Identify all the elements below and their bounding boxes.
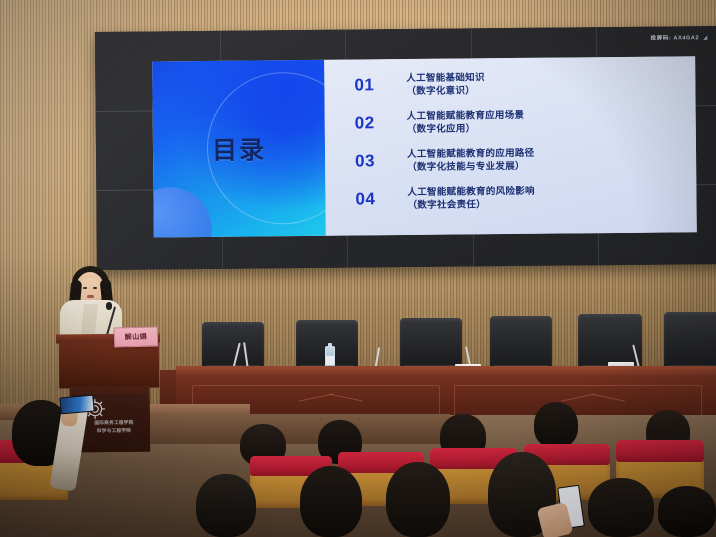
- podium-body: [59, 341, 159, 388]
- toc-title: 人工智能赋能教育的应用路径: [407, 147, 535, 159]
- toc-number: 04: [355, 189, 407, 209]
- lecture-hall-photo: 投屏码: AX4GA2◢ 目录 01 人工智能基础知识 （数字化意识） 02: [0, 0, 716, 537]
- toc-label: 人工智能赋能教育应用场景 （数字化应用）: [407, 108, 525, 136]
- speaker-name-text: 解山娟: [125, 332, 148, 342]
- slide-title-panel: 目录: [152, 60, 326, 238]
- toc-subtitle: （数字化意识）: [406, 84, 485, 98]
- speaker-name-placard: 解山娟: [114, 327, 158, 348]
- cast-code-arrow-icon: ◢: [703, 35, 708, 41]
- cast-code-label: 投屏码: AX4GA2◢: [651, 33, 708, 42]
- slide-toc-panel: 01 人工智能基础知识 （数字化意识） 02 人工智能赋能教育应用场景 （数字化…: [324, 56, 697, 236]
- presentation-slide: 目录 01 人工智能基础知识 （数字化意识） 02 人工智能赋能教育应用场景 （…: [152, 56, 697, 237]
- bottle-label: [326, 356, 334, 365]
- podium-org-text: 国际商务工程学院 科学与工程学院: [76, 419, 152, 435]
- photographer-phone[interactable]: [59, 395, 94, 415]
- toc-label: 人工智能赋能教育的风险影响 （数字社会责任）: [407, 184, 535, 212]
- toc-title: 人工智能基础知识: [406, 72, 485, 84]
- speaker-eye: [93, 287, 97, 289]
- audience-head: [658, 486, 716, 537]
- podium-microphone-head[interactable]: [106, 302, 112, 310]
- chair[interactable]: [664, 312, 716, 370]
- audience-head: [196, 474, 256, 537]
- phone-screen: [60, 396, 93, 414]
- podium-org-line2: 科学与工程学院: [76, 426, 152, 435]
- toc-item: 01 人工智能基础知识 （数字化意识）: [324, 63, 695, 105]
- stage-riser-front: [150, 414, 450, 444]
- audience-head: [534, 402, 578, 448]
- toc-subtitle: （数字化技能与专业发展）: [407, 160, 535, 175]
- toc-subtitle: （数字化应用）: [407, 122, 525, 137]
- audience-head: [300, 466, 362, 537]
- toc-number: 02: [355, 113, 407, 133]
- toc-number: 01: [354, 75, 406, 95]
- toc-label: 人工智能赋能教育的应用路径 （数字化技能与专业发展）: [407, 146, 535, 174]
- decor-blob: [152, 187, 212, 238]
- toc-item: 02 人工智能赋能教育应用场景 （数字化应用）: [325, 101, 696, 143]
- toc-subtitle: （数字社会责任）: [407, 198, 535, 213]
- speaker-mouth: [87, 295, 94, 298]
- toc-label: 人工智能基础知识 （数字化意识）: [406, 71, 485, 99]
- audience-head: [588, 478, 654, 537]
- speaker-eye: [83, 287, 87, 289]
- slide-heading: 目录: [212, 130, 266, 167]
- chair[interactable]: [490, 316, 552, 370]
- toc-item: 04 人工智能赋能教育的风险影响 （数字社会责任）: [325, 177, 696, 219]
- audience-head: [386, 462, 450, 537]
- speaker-face: [78, 278, 102, 302]
- toc-title: 人工智能赋能教育应用场景: [407, 109, 525, 121]
- chair[interactable]: [400, 318, 462, 370]
- toc-title: 人工智能赋能教育的风险影响: [407, 185, 535, 197]
- video-wall-screen[interactable]: 投屏码: AX4GA2◢ 目录 01 人工智能基础知识 （数字化意识） 02: [95, 26, 716, 270]
- toc-number: 03: [355, 151, 407, 171]
- toc-item: 03 人工智能赋能教育的应用路径 （数字化技能与专业发展）: [325, 139, 696, 181]
- cast-code-text: 投屏码: AX4GA2: [651, 35, 700, 41]
